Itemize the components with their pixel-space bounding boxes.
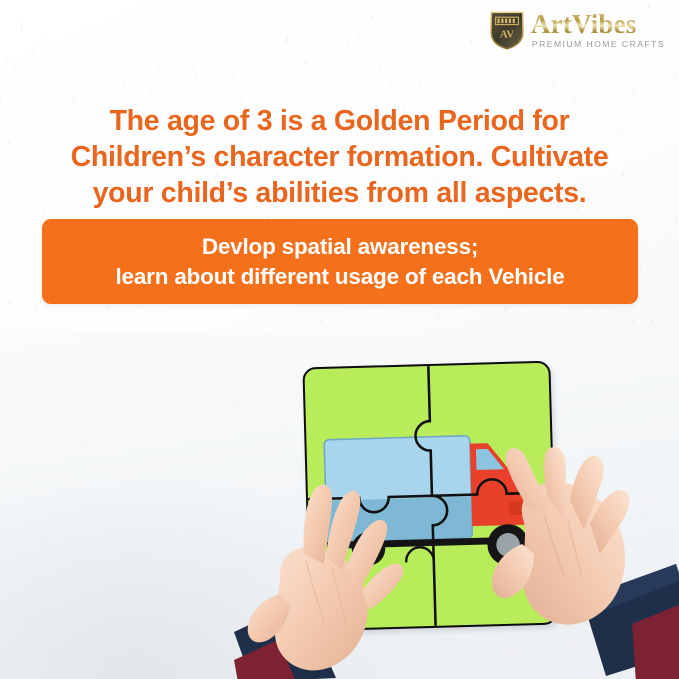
left-hand-svg	[244, 482, 454, 679]
product-photo	[0, 330, 679, 679]
brand-logo: AV ArtVibes PREMIUM HOME CRAFTS	[489, 10, 665, 50]
shield-crest-icon: AV	[489, 10, 525, 50]
promo-poster: AV ArtVibes PREMIUM HOME CRAFTS The age …	[0, 0, 679, 679]
logo-monogram: AV	[500, 28, 515, 40]
right-hand-svg	[486, 448, 679, 679]
feature-banner-line-2: learn about different usage of each Vehi…	[115, 264, 564, 289]
page-headline: The age of 3 is a Golden Period for Chil…	[40, 104, 640, 212]
shield-crest-icon-svg: AV	[489, 10, 525, 50]
feature-banner: Devlop spatial awareness; learn about di…	[42, 219, 638, 304]
child-right-hand	[486, 448, 679, 679]
feature-banner-line-1: Devlop spatial awareness;	[202, 234, 478, 259]
right-finger-index	[506, 448, 548, 512]
brand-name: ArtVibes	[531, 11, 665, 38]
logo-wordmark: ArtVibes PREMIUM HOME CRAFTS	[531, 11, 665, 49]
brand-tagline: PREMIUM HOME CRAFTS	[532, 40, 665, 49]
child-left-hand	[244, 482, 454, 679]
feature-banner-text: Devlop spatial awareness; learn about di…	[115, 232, 564, 292]
